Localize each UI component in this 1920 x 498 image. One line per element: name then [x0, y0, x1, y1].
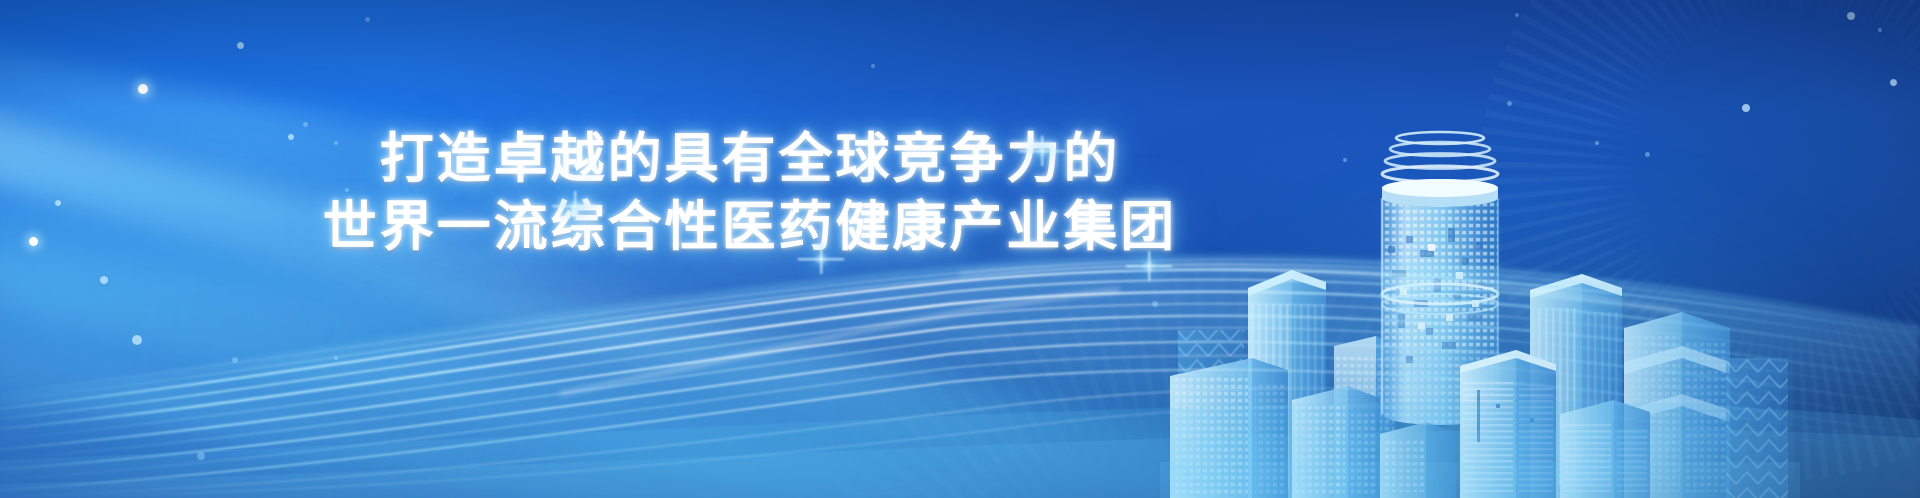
particle-dot — [1890, 79, 1897, 86]
particle-dot — [365, 17, 370, 22]
particle-dot — [871, 64, 875, 68]
particle-dot — [1152, 301, 1158, 307]
particle-dot — [1507, 101, 1512, 106]
particle-dot — [237, 42, 244, 49]
particle-dot — [288, 134, 294, 140]
particle-dot — [197, 452, 205, 460]
particle-dot — [303, 122, 308, 127]
particle-dot — [138, 84, 148, 94]
particle-dot — [29, 237, 38, 246]
particle-dot — [334, 356, 338, 360]
particle-layer — [0, 0, 1920, 498]
particle-dot — [55, 200, 61, 206]
particle-dot — [1878, 28, 1882, 32]
particle-dot — [1343, 158, 1347, 162]
particle-dot — [345, 188, 349, 192]
particle-dot — [100, 276, 108, 284]
hero-banner: 打造卓越的具有全球竞争力的 世界一流综合性医药健康产业集团 — [0, 0, 1920, 498]
particle-dot — [1742, 104, 1750, 112]
particle-dot — [334, 141, 338, 145]
particle-dot — [1515, 13, 1519, 17]
particle-dot — [1847, 12, 1855, 20]
particle-dot — [232, 357, 238, 363]
particle-dot — [1595, 141, 1599, 145]
particle-dot — [1645, 152, 1650, 157]
particle-dot — [132, 335, 142, 345]
